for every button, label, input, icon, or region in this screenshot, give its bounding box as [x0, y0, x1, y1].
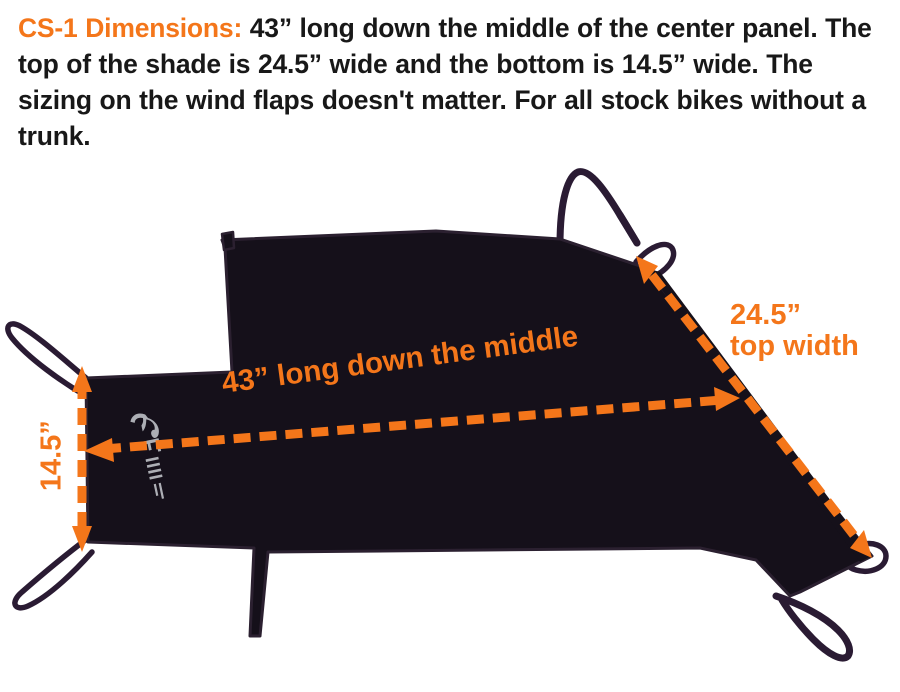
label-left-width: 14.5”	[36, 396, 67, 516]
label-top-width: 24.5” top width	[730, 300, 859, 363]
loop-bottom-left	[15, 538, 92, 608]
fabric-tab-top-left	[222, 232, 234, 250]
fabric-group	[86, 231, 872, 636]
strap-top-right-tail	[620, 215, 637, 243]
shade-fabric-body	[86, 231, 872, 636]
strap-top-right	[560, 172, 637, 245]
loop-top-left	[8, 324, 86, 396]
product-dimension-diagram: CS-1 Dimensions: 43” long down the middl…	[0, 0, 900, 692]
label-top-width-value: 24.5”	[730, 299, 801, 331]
label-top-width-caption: top width	[730, 331, 859, 362]
strap-group-front	[620, 215, 637, 243]
strap-bottom-right	[776, 596, 850, 658]
